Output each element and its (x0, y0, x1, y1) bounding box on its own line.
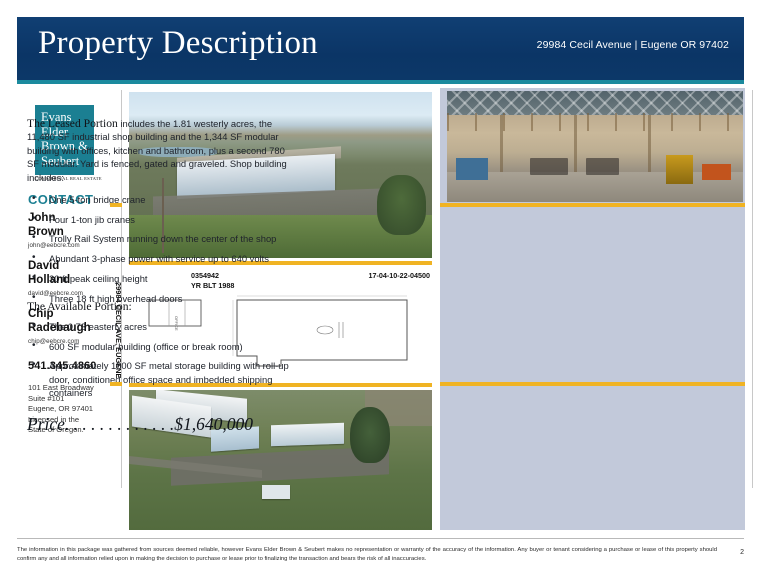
leased-paragraph: The Leased Portion includes the 1.81 wes… (27, 117, 292, 184)
interior-image (447, 91, 743, 202)
list-item: One 5-ton bridge crane (27, 193, 292, 206)
column-shape-1 (500, 115, 503, 177)
header-accent-bar (17, 80, 744, 84)
list-item: 600 SF modular building (office or break… (27, 340, 292, 353)
price-value: $1,640,000 (174, 414, 253, 434)
forklift-shape (666, 155, 693, 184)
right-panel-divider (752, 90, 753, 488)
available-bullet-list: The 0.73 easterly acres 600 SF modular b… (27, 320, 292, 399)
tree-shape (377, 175, 425, 235)
page-number: 2 (740, 549, 744, 556)
yellow-divider-right-lower (440, 382, 745, 386)
yellow-tick-left-lower (110, 382, 122, 386)
aerial-image (129, 390, 432, 530)
price-line: Price. . . . . . . . . . . . .$1,640,000 (27, 414, 297, 435)
blue-machine-shape (456, 158, 489, 180)
list-item: Approximately 1800 SF metal storage buil… (27, 359, 292, 399)
photo-aerial-property-overview (129, 390, 432, 530)
roof-truss-pattern (447, 91, 743, 115)
list-item: Trolly Rail System running down the cent… (27, 232, 292, 245)
orange-cabinet-shape (702, 164, 732, 180)
list-item: 30 ft peak ceiling height (27, 272, 292, 285)
site-plan-tax-lot: 17-04-10-22-04500 (368, 271, 430, 280)
leased-lead-in: The Leased Portion (27, 117, 118, 130)
workbench-shape-1 (530, 158, 568, 176)
list-item: Four 1-ton jib cranes (27, 213, 292, 226)
price-label: Price (27, 414, 65, 434)
leased-bullet-list: One 5-ton bridge crane Four 1-ton jib cr… (27, 193, 292, 305)
available-portion-block: The Available Portion: The 0.73 easterly… (27, 300, 292, 406)
aerial-tree-shape (350, 407, 389, 463)
yellow-divider-right-upper (440, 203, 745, 207)
photo-warehouse-interior (447, 91, 743, 202)
price-dots: . . . . . . . . . . . . . (65, 414, 174, 434)
column-shape-2 (574, 115, 577, 177)
property-description-page: Property Description 29984 Cecil Avenue … (0, 0, 761, 588)
available-heading: The Available Portion: (27, 300, 292, 313)
list-item: Abundant 3-phase power with service up t… (27, 252, 292, 265)
header-property-address: 29984 Cecil Avenue | Eugene OR 97402 (537, 39, 729, 51)
workbench-shape-2 (586, 158, 619, 176)
footer-disclaimer: The information in this package was gath… (17, 546, 717, 565)
list-item: The 0.73 easterly acres (27, 320, 292, 333)
shop-floor (447, 172, 743, 202)
column-shape-3 (648, 115, 651, 177)
footer-divider (17, 538, 744, 539)
page-title: Property Description (38, 25, 318, 62)
leased-portion-block: The Leased Portion includes the 1.81 wes… (27, 117, 292, 311)
yellow-tick-left-upper (110, 203, 122, 207)
building-shape-5 (262, 485, 289, 499)
ceiling-beams (447, 113, 743, 131)
page-header: Property Description 29984 Cecil Avenue … (17, 17, 744, 80)
